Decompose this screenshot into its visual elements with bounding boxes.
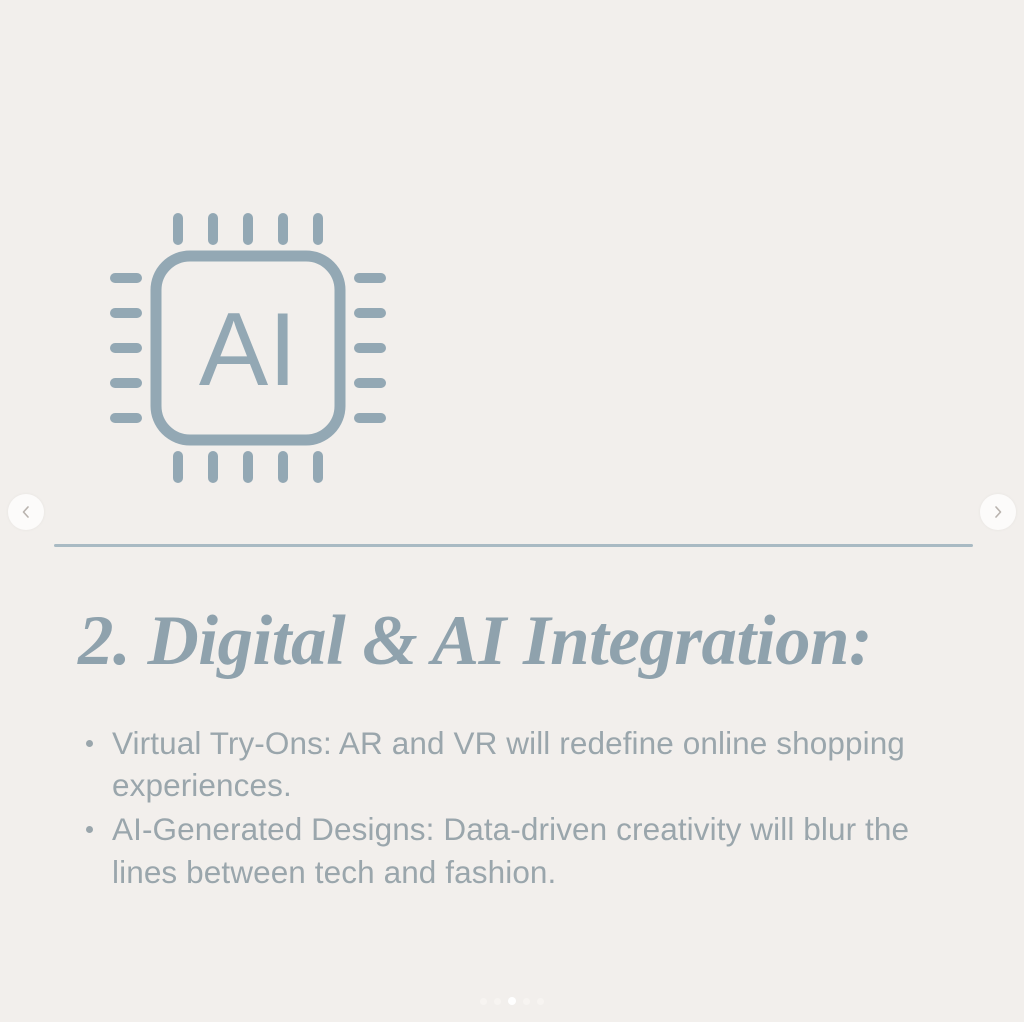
ai-chip-icon: AI — [96, 196, 400, 500]
pagination-dot[interactable] — [537, 998, 544, 1005]
list-item: Virtual Try-Ons: AR and VR will redefine… — [78, 722, 968, 806]
pagination-dot[interactable] — [523, 998, 530, 1005]
carousel-next-button[interactable] — [980, 494, 1016, 530]
carousel-pagination — [0, 997, 1024, 1005]
chevron-right-icon — [990, 504, 1006, 520]
ai-chip-icon-label: AI — [199, 292, 297, 408]
list-item: AI-Generated Designs: Data-driven creati… — [78, 808, 968, 892]
pagination-dot[interactable] — [494, 998, 501, 1005]
pagination-dot-active[interactable] — [508, 997, 516, 1005]
carousel-prev-button[interactable] — [8, 494, 44, 530]
bullet-list: Virtual Try-Ons: AR and VR will redefine… — [78, 722, 968, 895]
carousel-slide: AI 2. Digital & AI Integration: Virtual … — [0, 0, 1024, 1022]
pagination-dot[interactable] — [480, 998, 487, 1005]
page-title: 2. Digital & AI Integration: — [78, 604, 958, 679]
section-divider — [54, 544, 973, 547]
chevron-left-icon — [18, 504, 34, 520]
